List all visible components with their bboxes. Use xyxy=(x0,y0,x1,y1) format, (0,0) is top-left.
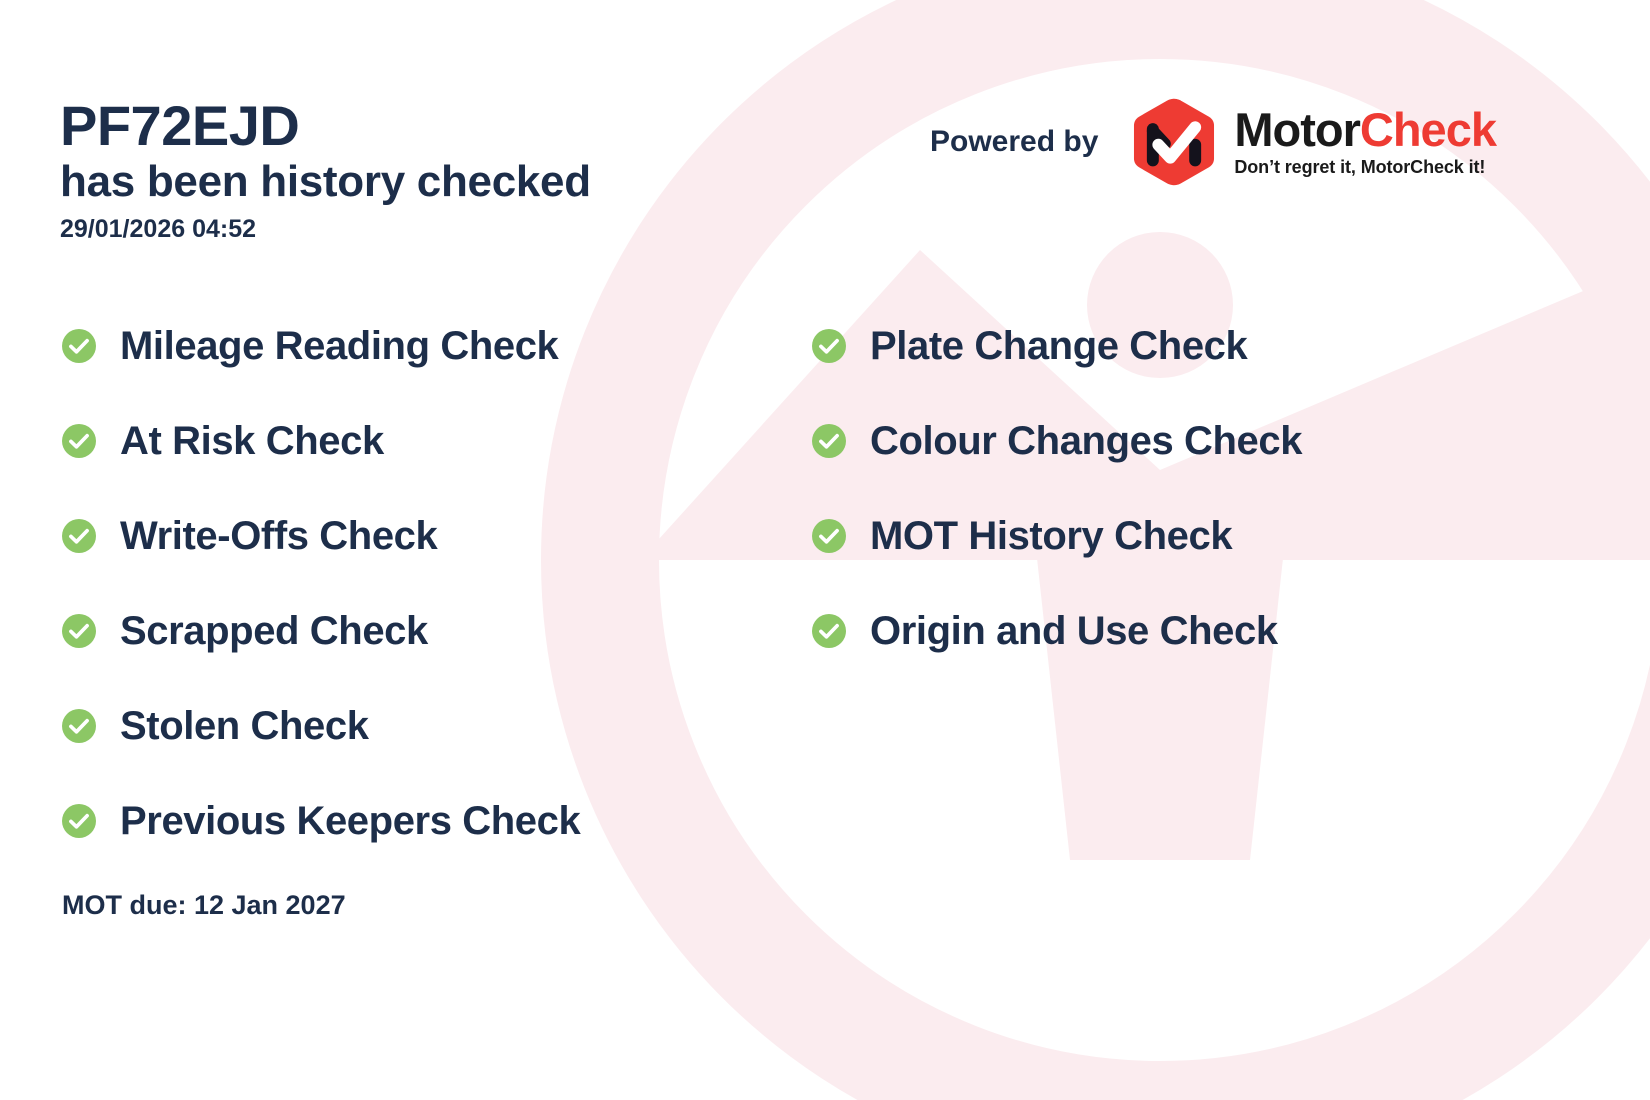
plate-registration-title: PF72EJD xyxy=(60,96,591,155)
powered-by-label: Powered by xyxy=(930,125,1098,159)
check-list-item: Origin and Use Check xyxy=(812,603,1302,658)
check-list-item-label: Plate Change Check xyxy=(870,326,1247,366)
check-list-item-label: Scrapped Check xyxy=(120,611,428,651)
check-list-item-label: MOT History Check xyxy=(870,516,1232,556)
powered-by-brand-block: Powered by MotorCheck Don’t regret it, M… xyxy=(930,95,1496,189)
check-circle-icon xyxy=(812,614,846,648)
motorcheck-wordmark: MotorCheck Don’t regret it, MotorCheck i… xyxy=(1234,106,1496,178)
check-circle-icon xyxy=(62,424,96,458)
check-list-item-label: Colour Changes Check xyxy=(870,421,1302,461)
logo-word-check: Check xyxy=(1360,103,1496,156)
check-circle-icon xyxy=(62,709,96,743)
check-list-item-label: Write-Offs Check xyxy=(120,516,437,556)
logo-tagline: Don’t regret it, MotorCheck it! xyxy=(1234,157,1496,178)
logo-hexagon-shape xyxy=(1134,99,1214,185)
check-circle-icon xyxy=(812,424,846,458)
check-list-item-label: Stolen Check xyxy=(120,706,369,746)
check-list-item: MOT History Check xyxy=(812,508,1302,563)
history-checked-subtitle: has been history checked xyxy=(60,157,591,206)
check-list-item-label: Mileage Reading Check xyxy=(120,326,558,366)
check-list-item-label: Origin and Use Check xyxy=(870,611,1278,651)
mot-due-text: MOT due: 12 Jan 2027 xyxy=(62,890,346,921)
check-list-item: Stolen Check xyxy=(62,698,580,753)
vehicle-history-check-card: PF72EJD has been history checked 29/01/2… xyxy=(0,0,1650,1100)
check-list-item: Plate Change Check xyxy=(812,318,1302,373)
check-list-item: Colour Changes Check xyxy=(812,413,1302,468)
check-circle-icon xyxy=(62,519,96,553)
check-circle-icon xyxy=(812,519,846,553)
check-circle-icon xyxy=(62,614,96,648)
check-list-item-label: Previous Keepers Check xyxy=(120,801,580,841)
motorcheck-hexagon-logo-icon[interactable] xyxy=(1128,96,1220,188)
check-list-item: Scrapped Check xyxy=(62,603,580,658)
check-circle-icon xyxy=(812,329,846,363)
check-circle-icon xyxy=(62,329,96,363)
check-list-item: Mileage Reading Check xyxy=(62,318,580,373)
check-list-item: At Risk Check xyxy=(62,413,580,468)
check-list-item-label: At Risk Check xyxy=(120,421,384,461)
check-list-right-column: Plate Change Check Colour Changes Check … xyxy=(812,318,1302,698)
logo-word-motor: Motor xyxy=(1234,103,1360,156)
check-circle-icon xyxy=(62,804,96,838)
logo-words-row: MotorCheck xyxy=(1234,106,1496,153)
heading-block: PF72EJD has been history checked 29/01/2… xyxy=(60,96,591,244)
check-list-left-column: Mileage Reading Check At Risk Check Writ… xyxy=(62,318,580,888)
card-content: PF72EJD has been history checked 29/01/2… xyxy=(0,0,1650,1100)
check-timestamp: 29/01/2026 04:52 xyxy=(60,215,591,244)
check-list-item: Write-Offs Check xyxy=(62,508,580,563)
check-list-item: Previous Keepers Check xyxy=(62,793,580,848)
